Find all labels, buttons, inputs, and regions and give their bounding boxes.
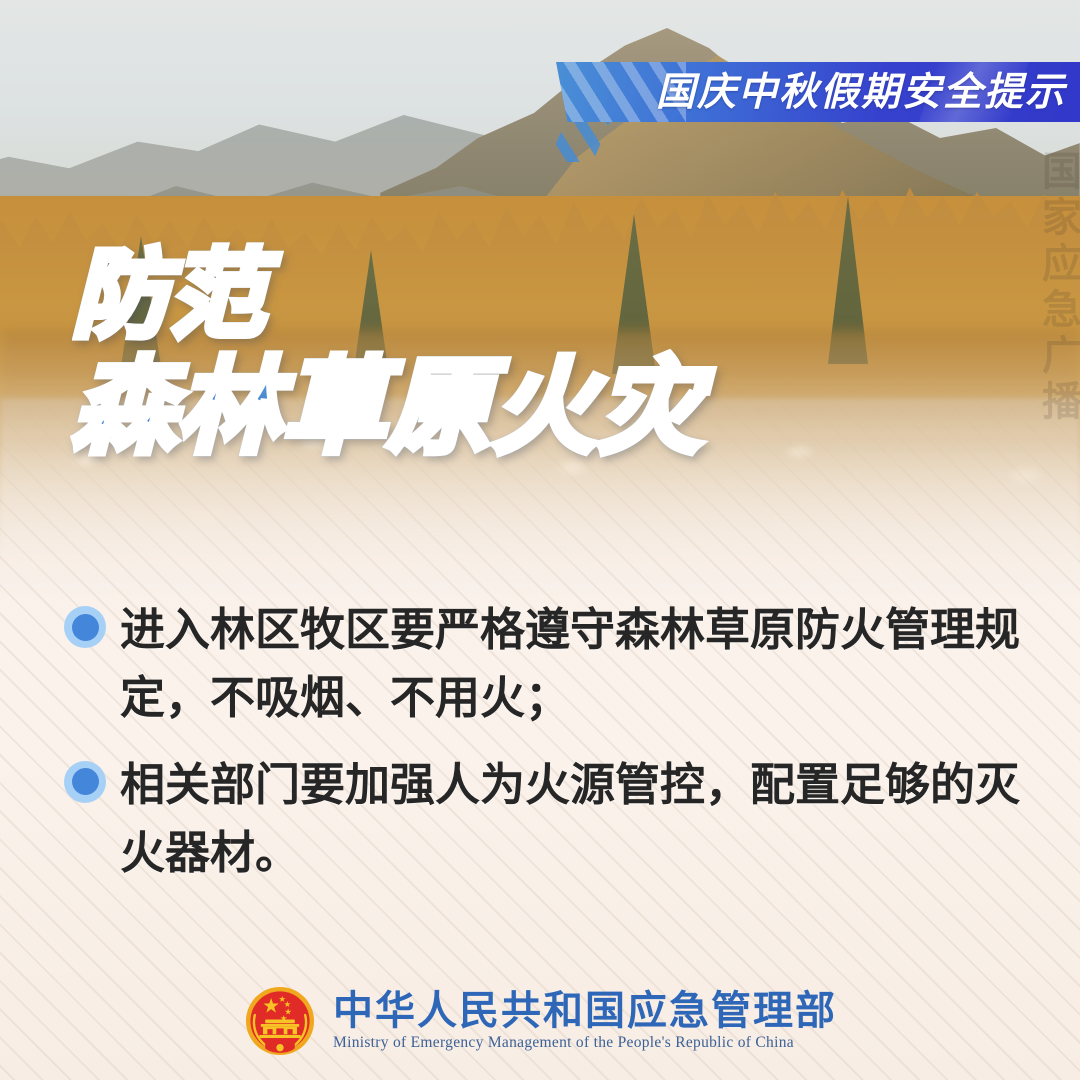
safety-tips-list: 进入林区牧区要严格遵守森林草原防火管理规定，不吸烟、不用火； 相关部门要加强人为…: [64, 596, 1020, 906]
page-title-line-2: 森林草原火灾: [72, 350, 702, 466]
header-banner: 国庆中秋假期安全提示: [556, 62, 1080, 122]
footer-branding: 中华人民共和国应急管理部 Ministry of Emergency Manag…: [0, 984, 1080, 1058]
ministry-name-en: Ministry of Emergency Management of the …: [333, 1035, 837, 1051]
footer-text-block: 中华人民共和国应急管理部 Ministry of Emergency Manag…: [333, 991, 837, 1051]
list-item-text: 进入林区牧区要严格遵守森林草原防火管理规定，不吸烟、不用火；: [120, 596, 1020, 733]
ministry-name-cn: 中华人民共和国应急管理部: [333, 991, 837, 1031]
list-item: 相关部门要加强人为火源管控，配置足够的灭火器材。: [64, 751, 1020, 888]
edge-watermark: 国家应急广播: [1038, 150, 1078, 426]
bullet-dot-icon: [64, 606, 106, 648]
national-emblem-icon: [243, 984, 317, 1058]
list-item-text: 相关部门要加强人为火源管控，配置足够的灭火器材。: [120, 751, 1020, 888]
list-item: 进入林区牧区要严格遵守森林草原防火管理规定，不吸烟、不用火；: [64, 596, 1020, 733]
page-title: 防范 森林草原火灾: [72, 242, 702, 466]
banner-title: 国庆中秋假期安全提示: [656, 73, 1066, 112]
safety-poster: 国家应急广播 国庆中秋假期安全提示 防范 森林草原火灾 进入林区牧区要严格遵守森…: [0, 0, 1080, 1080]
bullet-dot-icon: [64, 761, 106, 803]
page-title-line-1: 防范: [72, 242, 702, 350]
